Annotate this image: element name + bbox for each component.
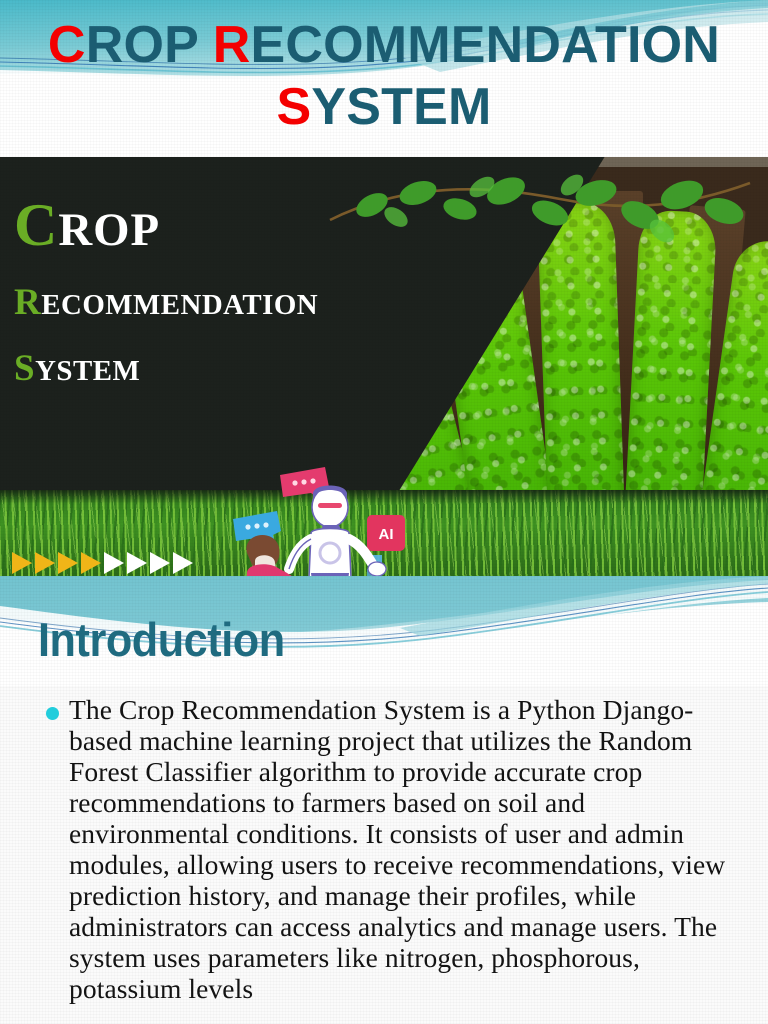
title-line-1: CROP RECOMMENDATION xyxy=(0,14,768,76)
hero-rest-rop: ROP xyxy=(58,204,160,256)
arrow-right-icon xyxy=(127,552,147,574)
hero-rest-ystem: YSTEM xyxy=(35,355,140,387)
hero-cap-r: R xyxy=(14,282,41,323)
hero-wordmark-line-2: RECOMMENDATION xyxy=(14,280,318,328)
arrow-right-icon xyxy=(58,552,78,574)
title-initial-s: S xyxy=(276,78,311,136)
section-heading: Introduction xyxy=(38,614,285,666)
hero-rest-ecommendation: ECOMMENDATION xyxy=(41,289,318,321)
slide-title: CROP RECOMMENDATION SYSTEM xyxy=(0,14,768,138)
bullet-list-item: The Crop Recommendation System is a Pyth… xyxy=(46,694,736,1004)
title-initial-c: C xyxy=(48,16,86,74)
hero-wordmark-line-1: CROP xyxy=(14,193,318,262)
ai-badge-label: AI xyxy=(379,526,394,543)
slide-header-wave: CROP RECOMMENDATION SYSTEM xyxy=(0,0,768,157)
arrow-right-icon xyxy=(35,552,55,574)
title-text-rop: ROP xyxy=(86,16,213,74)
arrow-right-icon xyxy=(104,552,124,574)
presentation-slide: CROP RECOMMENDATION SYSTEM xyxy=(0,0,768,1024)
title-initial-r: R xyxy=(213,16,251,74)
bullet-dot-icon xyxy=(46,707,59,720)
farmer-robot-illustration: AI xyxy=(225,457,430,576)
bullet-text: The Crop Recommendation System is a Pyth… xyxy=(69,694,736,1004)
hero-cap-s: S xyxy=(14,348,35,389)
title-text-ecommendation: ECOMMENDATION xyxy=(250,16,720,74)
hero-wordmark-line-3: SYSTEM xyxy=(14,346,318,394)
vine-decoration xyxy=(310,165,760,315)
arrow-right-icon xyxy=(12,552,32,574)
hero-cover-image: CROP RECOMMENDATION SYSTEM xyxy=(0,157,768,576)
arrow-right-icon xyxy=(173,552,193,574)
title-line-2: SYSTEM xyxy=(0,76,768,138)
arrow-decoration-group xyxy=(12,552,193,574)
arrow-right-icon xyxy=(150,552,170,574)
hero-cap-c: C xyxy=(14,192,58,258)
title-text-ystem: YSTEM xyxy=(311,78,491,136)
arrow-right-icon xyxy=(81,552,101,574)
hero-wordmark: CROP RECOMMENDATION SYSTEM xyxy=(14,193,318,394)
